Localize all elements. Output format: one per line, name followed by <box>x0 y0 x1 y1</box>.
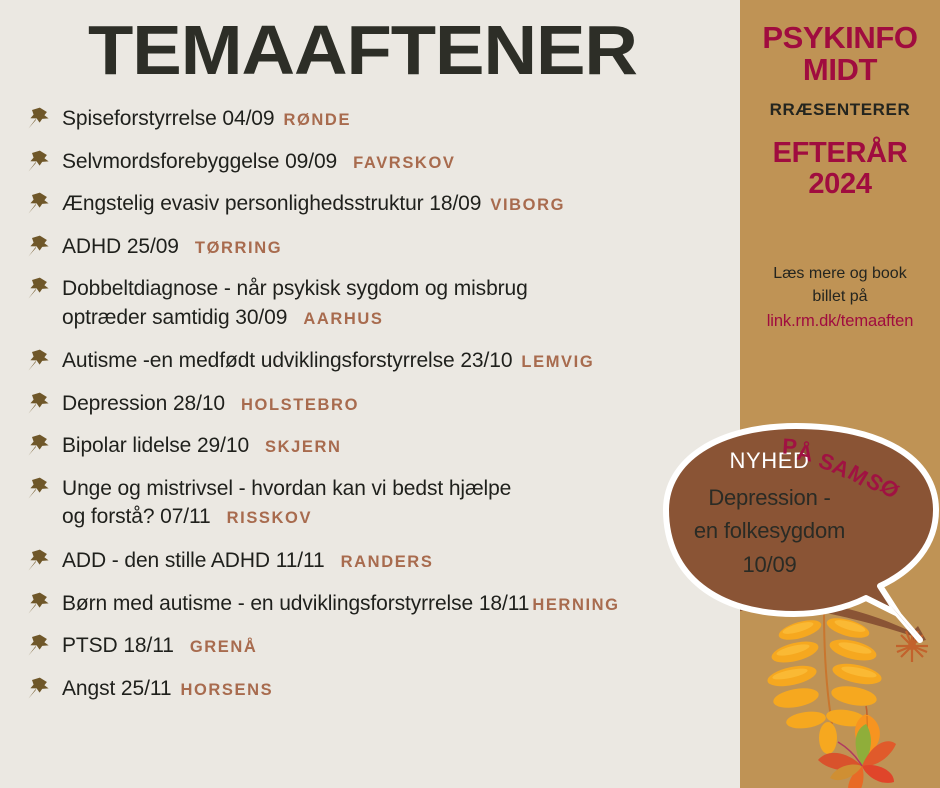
event-list: Spiseforstyrrelse 04/09RØNDESelvmordsfor… <box>26 104 746 716</box>
event-city: SKJERN <box>265 438 342 456</box>
event-row: Børn med autisme - en udviklingsforstyrr… <box>26 589 746 619</box>
pushpin-icon <box>26 233 54 261</box>
event-city: HERNING <box>532 596 619 614</box>
event-city: TØRRING <box>195 239 282 257</box>
event-title: Autisme -en medfødt udviklingsforstyrrel… <box>62 346 594 376</box>
event-title: Unge og mistrivsel - hvordan kan vi beds… <box>62 474 511 532</box>
event-city: GRENÅ <box>190 638 258 656</box>
event-title-line: og forstå? 07/11 <box>62 505 211 528</box>
pushpin-icon <box>26 347 54 375</box>
event-row: Unge og mistrivsel - hvordan kan vi beds… <box>26 474 746 532</box>
pushpin-icon <box>26 475 54 503</box>
event-row: Ængstelig evasiv personlighedsstruktur 1… <box>26 189 746 219</box>
event-city: RANDERS <box>341 553 434 571</box>
event-title-line: Dobbeltdiagnose - når psykisk sygdom og … <box>62 277 528 300</box>
brand-line-1: PSYKINFO <box>762 20 917 55</box>
event-title-line: Ængstelig evasiv personlighedsstruktur 1… <box>62 192 481 215</box>
event-title-line: Depression 28/10 <box>62 392 225 415</box>
pushpin-icon <box>26 390 54 418</box>
event-row: Autisme -en medfødt udviklingsforstyrrel… <box>26 346 746 376</box>
event-title-line: optræder samtidig 30/09 <box>62 306 287 329</box>
event-title-line: Børn med autisme - en udviklingsforstyrr… <box>62 592 529 615</box>
event-title: PTSD 18/11GRENÅ <box>62 631 257 661</box>
event-title: ADD - den stille ADHD 11/11RANDERS <box>62 546 433 576</box>
event-row: ADD - den stille ADHD 11/11RANDERS <box>26 546 746 576</box>
event-title: Selvmordsforebyggelse 09/09FAVRSKOV <box>62 147 455 177</box>
season-label: EFTERÅR 2024 <box>740 138 940 199</box>
season-line-1: EFTERÅR <box>773 137 908 169</box>
event-title: Dobbeltdiagnose - når psykisk sygdom og … <box>62 274 528 332</box>
season-year: 2024 <box>740 169 940 200</box>
pushpin-icon <box>26 590 54 618</box>
event-row: PTSD 18/11GRENÅ <box>26 631 746 661</box>
event-title-line: Selvmordsforebyggelse 09/09 <box>62 150 337 173</box>
read-more-line-1: Læs mere og book <box>773 265 906 282</box>
pushpin-icon <box>26 105 54 133</box>
pushpin-icon <box>26 547 54 575</box>
event-row: Selvmordsforebyggelse 09/09FAVRSKOV <box>26 147 746 177</box>
event-city: VIBORG <box>490 196 565 214</box>
event-row: Angst 25/11HORSENS <box>26 674 746 704</box>
presents-label: RRÆSENTERER <box>740 100 940 120</box>
event-row: ADHD 25/09TØRRING <box>26 232 746 262</box>
event-city: RISSKOV <box>227 509 312 527</box>
event-city: RØNDE <box>283 111 351 129</box>
pushpin-icon <box>26 675 54 703</box>
event-title: Bipolar lidelse 29/10SKJERN <box>62 431 342 461</box>
event-title: ADHD 25/09TØRRING <box>62 232 282 262</box>
brand-name: PSYKINFO MIDT <box>740 22 940 85</box>
event-title-line: ADHD 25/09 <box>62 235 179 258</box>
event-city: FAVRSKOV <box>353 154 455 172</box>
event-title: Angst 25/11HORSENS <box>62 674 273 704</box>
brand-line-2: MIDT <box>740 54 940 86</box>
poster-canvas: TEMAAFTENER Spiseforstyrrelse 04/09RØNDE… <box>0 0 940 788</box>
pushpin-icon <box>26 148 54 176</box>
event-title: Ængstelig evasiv personlighedsstruktur 1… <box>62 189 565 219</box>
event-title-line: Angst 25/11 <box>62 677 171 700</box>
event-title: Spiseforstyrrelse 04/09RØNDE <box>62 104 351 134</box>
event-row: Depression 28/10HOLSTEBRO <box>26 389 746 419</box>
event-title: Depression 28/10HOLSTEBRO <box>62 389 359 419</box>
pushpin-icon <box>26 275 54 303</box>
read-more-line-2: billet på <box>752 285 928 308</box>
event-city: AARHUS <box>303 310 383 328</box>
page-title: TEMAAFTENER <box>88 10 637 90</box>
event-title-line: Bipolar lidelse 29/10 <box>62 434 249 457</box>
event-title-line: ADD - den stille ADHD 11/11 <box>62 549 325 572</box>
event-row: Bipolar lidelse 29/10SKJERN <box>26 431 746 461</box>
event-title-line: Spiseforstyrrelse 04/09 <box>62 107 274 130</box>
pushpin-icon <box>26 190 54 218</box>
event-city: LEMVIG <box>521 353 594 371</box>
event-title-line: PTSD 18/11 <box>62 634 174 657</box>
event-title-line: Autisme -en medfødt udviklingsforstyrrel… <box>62 349 512 372</box>
pushpin-icon <box>26 632 54 660</box>
read-more-text: Læs mere og book billet på link.rm.dk/te… <box>740 262 940 334</box>
event-row: Dobbeltdiagnose - når psykisk sygdom og … <box>26 274 746 332</box>
event-city: HOLSTEBRO <box>241 396 359 414</box>
event-title: Børn med autisme - en udviklingsforstyrr… <box>62 589 620 619</box>
event-row: Spiseforstyrrelse 04/09RØNDE <box>26 104 746 134</box>
event-title-line: Unge og mistrivsel - hvordan kan vi beds… <box>62 477 511 500</box>
event-city: HORSENS <box>180 681 273 699</box>
booking-link[interactable]: link.rm.dk/temaaften <box>752 310 928 334</box>
pushpin-icon <box>26 432 54 460</box>
